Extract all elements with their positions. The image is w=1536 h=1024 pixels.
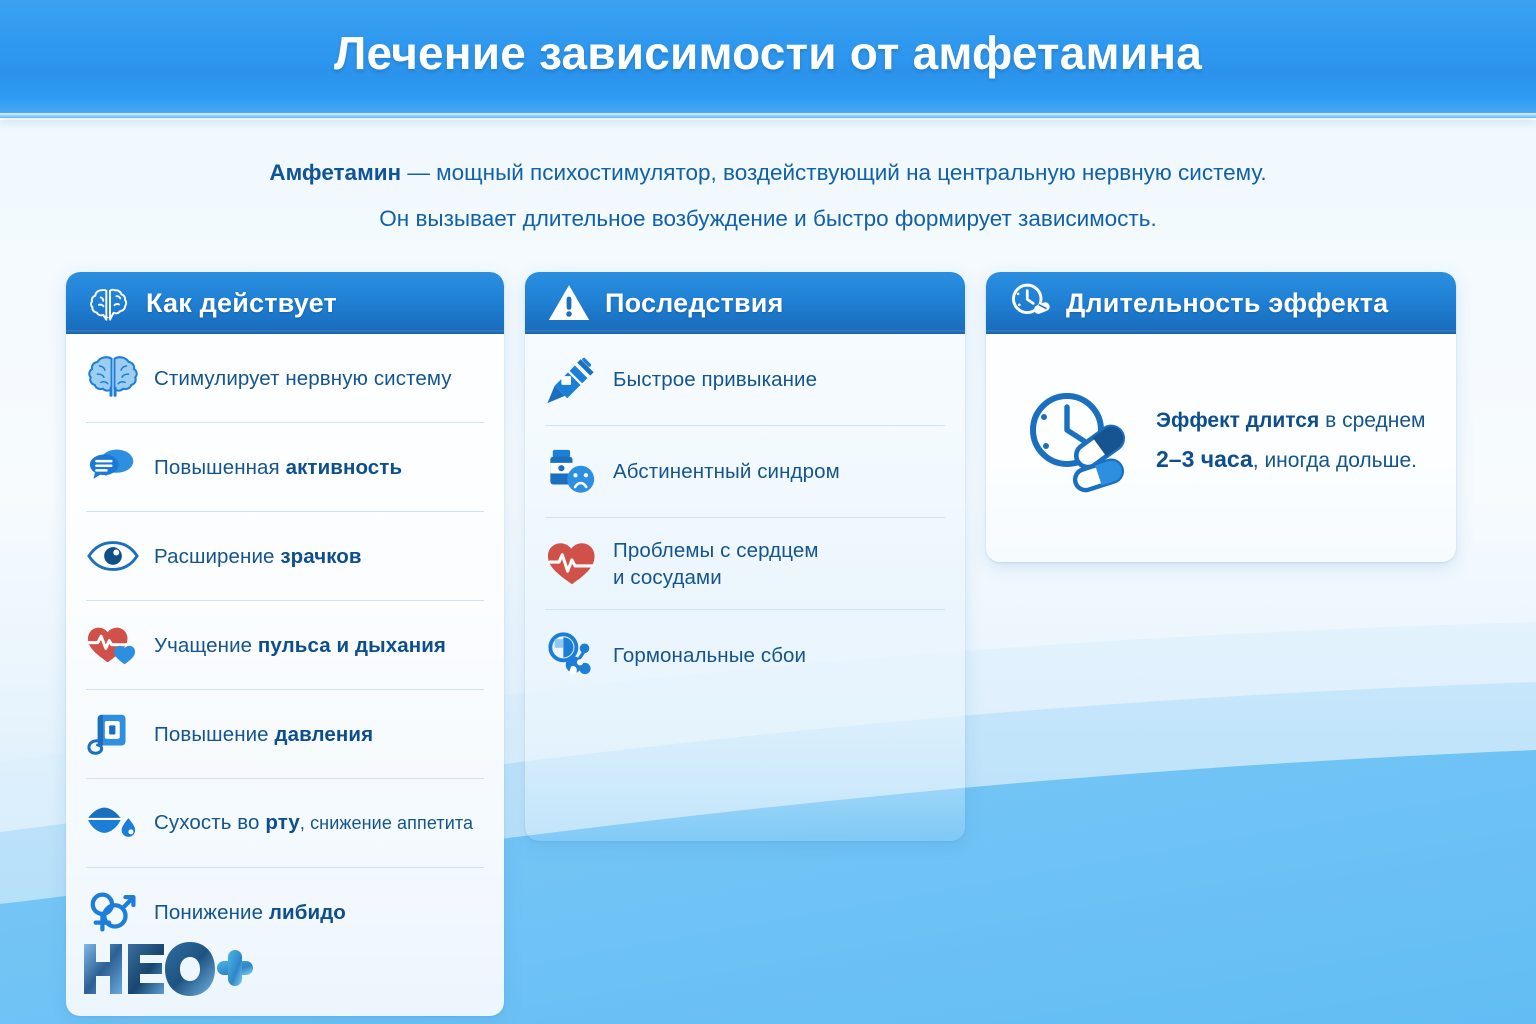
list-item-label: Повышенная активность <box>154 454 402 481</box>
list-item: Гормональные сбои <box>545 610 945 701</box>
list-item-text: Проблемы с сердцем и сосудами <box>613 539 819 589</box>
duration-value: 2–3 часа <box>1156 446 1253 472</box>
card-header-effect-duration: Длительность эффекта <box>986 272 1456 334</box>
card-consequences: Последствия Быстрое привыкание <box>525 272 965 841</box>
list-item: Расширение зрачков <box>86 512 484 601</box>
syringe-icon <box>545 354 599 406</box>
infographic-poster: Лечение зависимости от амфетамина Амфета… <box>0 0 1536 1024</box>
duration-line-1-rest: в среднем <box>1319 409 1425 432</box>
list-item-emphasis: давления <box>274 723 373 746</box>
list-item-label: Учащение пульса и дыхания <box>154 632 446 659</box>
list-item: Абстинентный синдром <box>545 426 945 518</box>
brain-icon <box>86 352 140 404</box>
list-item-label: Понижение либидо <box>154 899 346 926</box>
intro-line-1-rest: — мощный психостимулятор, воздействующий… <box>401 160 1267 185</box>
list-item-text: Сухость во <box>154 811 265 834</box>
duration-line-2-rest: , иногда дольше. <box>1253 449 1417 472</box>
list-item-tail: , снижение аппетита <box>300 813 473 833</box>
list-item-text: Стимулирует нервную систему <box>154 367 452 390</box>
list-item-emphasis: рту <box>265 811 300 834</box>
card-title-consequences: Последствия <box>605 288 784 319</box>
lips-drop-icon <box>86 797 140 849</box>
card-body-effect-duration: Эффект длится в среднем 2–3 часа, иногда… <box>986 334 1456 562</box>
intro-line-2: Он вызывает длительное возбуждение и быс… <box>0 196 1536 242</box>
list-item-label: Стимулирует нервную систему <box>154 365 452 392</box>
list-item-label: Абстинентный синдром <box>613 458 840 485</box>
list-item-emphasis: зрачков <box>280 545 361 568</box>
list-item-label: Повышение давления <box>154 721 373 748</box>
page-header: Лечение зависимости от амфетамина <box>0 0 1536 118</box>
speech-bubbles-icon <box>86 441 140 493</box>
blood-pressure-monitor-icon <box>86 708 140 760</box>
list-item: Повышенная активность <box>86 423 484 512</box>
list-item-label: Расширение зрачков <box>154 543 362 570</box>
list-item-text: Абстинентный синдром <box>613 460 840 483</box>
page-title: Лечение зависимости от амфетамина <box>0 26 1536 80</box>
clock-pills-icon <box>1008 281 1052 325</box>
intro-line-1: Амфетамин — мощный психостимулятор, возд… <box>0 150 1536 196</box>
duration-line-2: 2–3 часа, иногда дольше. <box>1156 440 1425 480</box>
list-item-text: Быстрое привыкание <box>613 368 817 391</box>
duration-block: Эффект длится в среднем 2–3 часа, иногда… <box>1020 386 1434 496</box>
list-item-emphasis: либидо <box>269 901 346 924</box>
list-item: Быстрое привыкание <box>545 334 945 426</box>
pill-bottle-sad-face-icon <box>545 446 599 498</box>
list-item-text: Расширение <box>154 545 280 568</box>
card-header-how-it-works: Как действует <box>66 272 504 334</box>
neo-plus-logo <box>80 938 255 1000</box>
brain-icon <box>88 281 132 325</box>
duration-line-1: Эффект длится в среднем <box>1156 402 1425 440</box>
hearts-pulse-icon <box>86 619 140 671</box>
eye-icon <box>86 530 140 582</box>
list-item: Сухость во рту, снижение аппетита <box>86 779 484 868</box>
intro-keyword: Амфетамин <box>269 160 401 185</box>
card-body-consequences: Быстрое привыкание Абстинентный синдром <box>525 334 965 841</box>
heart-pulse-icon <box>545 538 599 590</box>
intro-text: Амфетамин — мощный психостимулятор, возд… <box>0 150 1536 242</box>
list-item-text: Повышенная <box>154 456 286 479</box>
list-item-emphasis: пульса и дыхания <box>258 634 446 657</box>
duration-text: Эффект длится в среднем 2–3 часа, иногда… <box>1156 402 1425 480</box>
warning-triangle-icon <box>547 281 591 325</box>
list-item-text: Повышение <box>154 723 274 746</box>
duration-line-1-emphasis: Эффект длится <box>1156 409 1319 432</box>
list-item-emphasis: активность <box>286 456 403 479</box>
gender-symbols-icon <box>86 886 140 938</box>
list-item: Проблемы с сердцем и сосудами <box>545 518 945 610</box>
card-title-how-it-works: Как действует <box>146 288 337 319</box>
list-item-label: Проблемы с сердцем и сосудами <box>613 537 819 591</box>
list-item: Стимулирует нервную систему <box>86 334 484 423</box>
list-item-text: Гормональные сбои <box>613 644 806 667</box>
hormones-molecule-icon <box>545 630 599 682</box>
card-title-effect-duration: Длительность эффекта <box>1066 288 1388 319</box>
list-item-label: Гормональные сбои <box>613 642 806 669</box>
list-item: Повышение давления <box>86 690 484 779</box>
card-how-it-works: Как действует Стимулирует нервную систем… <box>66 272 504 1016</box>
list-item-label: Быстрое привыкание <box>613 366 817 393</box>
list-item-label: Сухость во рту, снижение аппетита <box>154 809 473 837</box>
list-item: Учащение пульса и дыхания <box>86 601 484 690</box>
list-item-text: Понижение <box>154 901 269 924</box>
card-body-how-it-works: Стимулирует нервную систему Повышенная а… <box>66 334 504 1016</box>
list-item-text: Учащение <box>154 634 258 657</box>
clock-pills-large-icon <box>1020 386 1138 496</box>
card-header-consequences: Последствия <box>525 272 965 334</box>
card-effect-duration: Длительность эффекта <box>986 272 1456 562</box>
